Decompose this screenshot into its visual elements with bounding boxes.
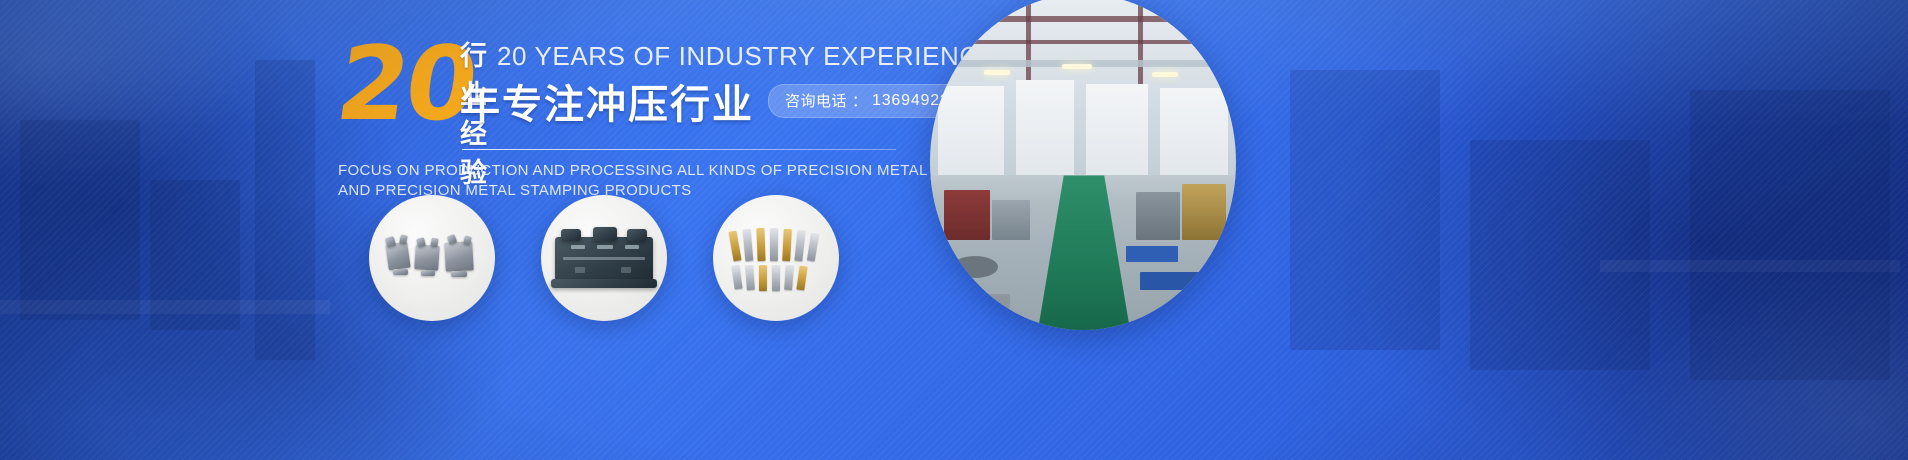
vignette-overlay xyxy=(0,0,1908,460)
promo-banner: 20 行业经验 20 YEARS OF INDUSTRY EXPERIENCE … xyxy=(0,0,1908,460)
